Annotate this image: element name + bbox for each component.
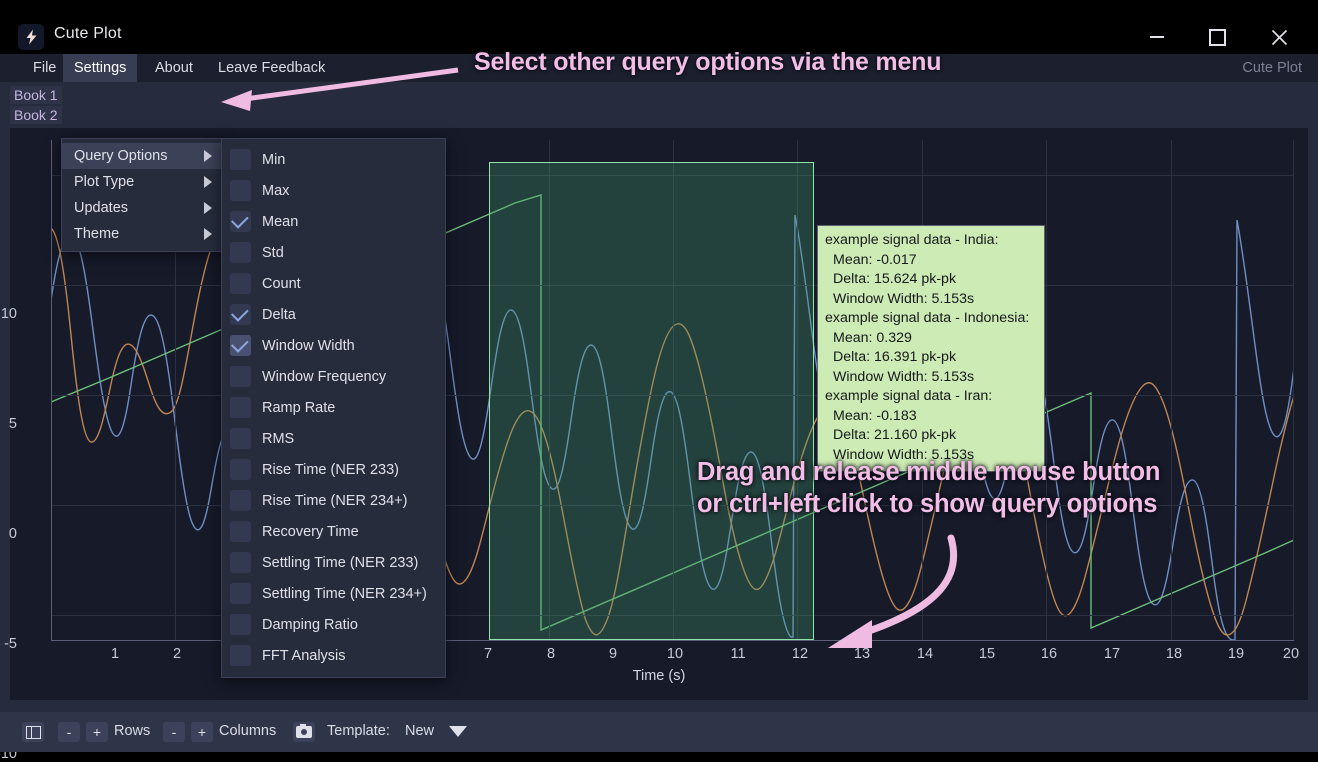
y-tick-5: 5 <box>0 416 17 432</box>
x-tick-16: 16 <box>1029 646 1069 662</box>
settings-item-updates[interactable]: Updates <box>62 195 222 221</box>
query-option-label: Std <box>262 245 284 261</box>
query-option-label: Max <box>262 183 289 199</box>
settings-item-plot-type[interactable]: Plot Type <box>62 169 222 195</box>
query-option-count[interactable]: Count <box>222 268 445 299</box>
query-option-label: Count <box>262 276 301 292</box>
book-tab-2[interactable]: Book 2 <box>10 106 62 124</box>
query-option-ramp-rate[interactable]: Ramp Rate <box>222 392 445 423</box>
query-option-delta[interactable]: Delta <box>222 299 445 330</box>
checkbox-unchecked-icon[interactable] <box>230 614 251 635</box>
checkbox-unchecked-icon[interactable] <box>230 583 251 604</box>
tooltip-line: Window Width: 5.153s <box>825 290 1037 310</box>
query-option-rise-time-ner234[interactable]: Rise Time (NER 234+) <box>222 485 445 516</box>
menu-settings[interactable]: Settings <box>63 54 137 82</box>
query-option-label: Rise Time (NER 233) <box>262 462 399 478</box>
app-lightning-bolt-icon <box>18 24 44 50</box>
rows-minus-label: - <box>58 722 80 742</box>
checkbox-checked-icon[interactable] <box>230 335 251 356</box>
checkbox-checked-icon[interactable] <box>230 304 251 325</box>
checkbox-unchecked-icon[interactable] <box>230 149 251 170</box>
query-option-rms[interactable]: RMS <box>222 423 445 454</box>
columns-minus-button[interactable]: - <box>163 722 185 742</box>
query-option-label: FFT Analysis <box>262 648 346 664</box>
query-option-mean[interactable]: Mean <box>222 206 445 237</box>
checkbox-unchecked-icon[interactable] <box>230 552 251 573</box>
annotation-bottom-line2: or ctrl+left click to show query options <box>697 488 1160 520</box>
checkbox-unchecked-icon[interactable] <box>230 366 251 387</box>
menu-leave-feedback[interactable]: Leave Feedback <box>207 54 336 82</box>
x-tick-13: 13 <box>842 646 882 662</box>
query-option-recovery-time[interactable]: Recovery Time <box>222 516 445 547</box>
rows-minus-button[interactable]: - <box>58 722 80 742</box>
checkbox-unchecked-icon[interactable] <box>230 645 251 666</box>
rows-plus-label: + <box>86 722 108 742</box>
query-option-label: Settling Time (NER 233) <box>262 555 418 571</box>
tooltip-line: Mean: -0.183 <box>825 407 1037 427</box>
x-tick-14: 14 <box>905 646 945 662</box>
x-axis-label: Time (s) <box>10 668 1308 684</box>
columns-plus-button[interactable]: + <box>191 722 213 742</box>
annotation-top-text: Select other query options via the menu <box>474 48 941 77</box>
tooltip-line: Window Width: 5.153s <box>825 368 1037 388</box>
settings-item-label: Theme <box>74 226 119 242</box>
x-tick-1: 1 <box>95 646 135 662</box>
rows-label: Rows <box>114 723 150 739</box>
checkbox-unchecked-icon[interactable] <box>230 521 251 542</box>
x-tick-11: 11 <box>718 646 758 662</box>
settings-item-theme[interactable]: Theme <box>62 221 222 247</box>
checkbox-unchecked-icon[interactable] <box>230 459 251 480</box>
query-option-label: Ramp Rate <box>262 400 335 416</box>
columns-label: Columns <box>219 723 276 739</box>
tooltip-line: Delta: 16.391 pk-pk <box>825 348 1037 368</box>
settings-item-query-options[interactable]: Query Options <box>62 143 222 169</box>
y-tick-10: 10 <box>0 306 17 322</box>
book-tab-strip: Book 1 Book 2 <box>0 82 1318 124</box>
query-option-window-width[interactable]: Window Width <box>222 330 445 361</box>
maximize-button[interactable] <box>1194 22 1240 52</box>
checkbox-unchecked-icon[interactable] <box>230 242 251 263</box>
submenu-caret-icon <box>204 228 212 240</box>
submenu-caret-icon <box>204 176 212 188</box>
toggle-sidebar-button[interactable] <box>22 722 44 742</box>
tooltip-line: Delta: 15.624 pk-pk <box>825 270 1037 290</box>
query-option-label: Rise Time (NER 234+) <box>262 493 407 509</box>
x-tick-8: 8 <box>531 646 571 662</box>
x-tick-19: 19 <box>1216 646 1256 662</box>
query-option-std[interactable]: Std <box>222 237 445 268</box>
checkbox-checked-icon[interactable] <box>230 211 251 232</box>
y-axis-line <box>51 140 52 640</box>
settings-item-label: Updates <box>74 200 128 216</box>
query-option-fft-analysis[interactable]: FFT Analysis <box>222 640 445 671</box>
window-body: File Settings About Leave Feedback Cute … <box>0 54 1318 752</box>
settings-dropdown-menu[interactable]: Query Options Plot Type Updates Theme <box>61 138 223 252</box>
x-tick-20: 20 <box>1271 646 1311 662</box>
title-bar: Cute Plot <box>0 0 1318 54</box>
screenshot-button[interactable] <box>293 722 315 742</box>
y-tick-0: 0 <box>0 526 17 542</box>
book-tab-1[interactable]: Book 1 <box>10 86 62 104</box>
submenu-caret-icon <box>204 150 212 162</box>
query-option-min[interactable]: Min <box>222 144 445 175</box>
annotation-bottom-text: Drag and release middle mouse button or … <box>697 456 1160 520</box>
template-label: Template: <box>327 723 390 739</box>
query-option-label: RMS <box>262 431 294 447</box>
submenu-caret-icon <box>204 202 212 214</box>
minimize-button[interactable] <box>1134 22 1180 52</box>
checkbox-unchecked-icon[interactable] <box>230 180 251 201</box>
query-option-damping-ratio[interactable]: Damping Ratio <box>222 609 445 640</box>
columns-minus-label: - <box>163 722 185 742</box>
query-option-label: Window Width <box>262 338 355 354</box>
template-dropdown-caret-icon[interactable] <box>449 726 467 737</box>
query-option-label: Settling Time (NER 234+) <box>262 586 427 602</box>
checkbox-unchecked-icon[interactable] <box>230 428 251 449</box>
query-option-label: Delta <box>262 307 296 323</box>
x-tick-10: 10 <box>655 646 695 662</box>
camera-icon <box>293 722 315 742</box>
app-window: Cute Plot File Settings About Leave Feed… <box>0 0 1318 752</box>
bottom-toolbar: - + Rows - + Columns Template: New <box>0 712 1318 752</box>
x-tick-15: 15 <box>967 646 1007 662</box>
query-selection-region[interactable] <box>489 162 814 640</box>
x-tick-9: 9 <box>593 646 633 662</box>
query-option-label: Damping Ratio <box>262 617 358 633</box>
query-option-max[interactable]: Max <box>222 175 445 206</box>
menu-file[interactable]: File <box>22 54 67 82</box>
checkbox-unchecked-icon[interactable] <box>230 490 251 511</box>
query-options-submenu[interactable]: Min Max Mean Std Count Delta Window Widt… <box>221 138 446 678</box>
query-option-settling-time-ner233[interactable]: Settling Time (NER 233) <box>222 547 445 578</box>
checkbox-unchecked-icon[interactable] <box>230 273 251 294</box>
query-result-tooltip: example signal data - India: Mean: -0.01… <box>817 225 1045 472</box>
tooltip-line: example signal data - Indonesia: <box>825 309 1037 329</box>
query-option-label: Min <box>262 152 285 168</box>
tooltip-line: example signal data - India: <box>825 231 1037 251</box>
settings-item-label: Plot Type <box>74 174 134 190</box>
tooltip-line: Delta: 21.160 pk-pk <box>825 426 1037 446</box>
x-tick-12: 12 <box>780 646 820 662</box>
tooltip-line: Mean: -0.017 <box>825 251 1037 271</box>
close-button[interactable] <box>1256 22 1302 52</box>
x-tick-18: 18 <box>1154 646 1194 662</box>
template-value[interactable]: New <box>405 723 434 739</box>
rows-plus-button[interactable]: + <box>86 722 108 742</box>
query-option-label: Window Frequency <box>262 369 386 385</box>
query-option-settling-time-ner234[interactable]: Settling Time (NER 234+) <box>222 578 445 609</box>
checkbox-unchecked-icon[interactable] <box>230 397 251 418</box>
panel-icon <box>22 722 44 742</box>
tooltip-line: Mean: 0.329 <box>825 329 1037 349</box>
app-name-label: Cute Plot <box>1242 60 1302 76</box>
y-tick-neg5: -5 <box>0 636 17 652</box>
x-tick-7: 7 <box>468 646 508 662</box>
menu-about[interactable]: About <box>144 54 204 82</box>
tooltip-line: example signal data - Iran: <box>825 387 1037 407</box>
query-option-label: Recovery Time <box>262 524 359 540</box>
annotation-bottom-line1: Drag and release middle mouse button <box>697 456 1160 488</box>
settings-item-label: Query Options <box>74 148 168 164</box>
query-option-window-frequency[interactable]: Window Frequency <box>222 361 445 392</box>
x-tick-17: 17 <box>1092 646 1132 662</box>
columns-plus-label: + <box>191 722 213 742</box>
window-title: Cute Plot <box>54 25 122 43</box>
query-option-rise-time-ner233[interactable]: Rise Time (NER 233) <box>222 454 445 485</box>
x-tick-2: 2 <box>157 646 197 662</box>
query-option-label: Mean <box>262 214 298 230</box>
